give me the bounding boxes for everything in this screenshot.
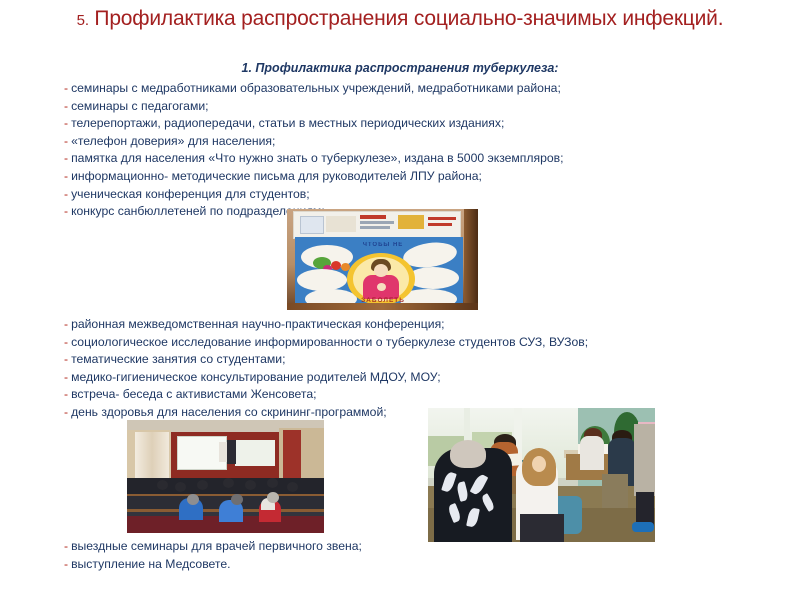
bullet-list-two: -районная межведомственная научно-практи… — [64, 316, 764, 422]
classroom-wall — [578, 408, 655, 486]
floral-pattern — [441, 471, 457, 493]
bullet-dash-icon: - — [64, 169, 68, 183]
person-figure-foreground — [434, 448, 512, 542]
list-item: -семинары с педагогами; — [64, 98, 764, 116]
window-frame — [464, 408, 470, 478]
table-surface — [488, 460, 552, 469]
chair — [548, 496, 582, 534]
bullet-dash-icon: - — [64, 187, 68, 201]
hall-left-curtain — [135, 432, 169, 488]
classroom-floor — [428, 508, 655, 542]
bullet-dash-icon: - — [64, 116, 68, 130]
poster-petal — [305, 289, 357, 309]
bullet-dash-icon: - — [64, 81, 68, 95]
poster-floor — [287, 303, 478, 310]
poster-center-disc — [353, 257, 409, 301]
audience-head — [231, 494, 243, 505]
list-item: -ученическая конференция для студентов; — [64, 186, 764, 204]
window-foliage — [472, 432, 512, 456]
audience-person-red — [259, 500, 281, 522]
photo-health-poster: ЧТОБЫ НЕ ЗАБОЛЕТЬ — [287, 209, 478, 310]
bullet-dash-icon: - — [64, 539, 68, 553]
person-figure-foreground — [516, 460, 558, 540]
person-figure — [580, 436, 604, 470]
paper-sheet — [578, 444, 608, 454]
table-surface — [564, 450, 632, 458]
classroom-floor — [428, 486, 655, 542]
list-item-label: медико-гигиеническое консультирование ро… — [71, 370, 441, 384]
list-item-label: семинары с медработниками образовательны… — [71, 81, 561, 95]
bullet-dash-icon: - — [64, 335, 68, 349]
audience-row — [127, 512, 324, 525]
person-hair — [612, 430, 632, 444]
vegetable-shape — [341, 263, 350, 271]
list-item-label: выездные семинары для врачей первичного … — [71, 539, 362, 553]
bullet-dash-icon: - — [64, 352, 68, 366]
bullet-dash-icon: - — [64, 405, 68, 419]
section-subtitle: 1. Профилактика распространения туберкул… — [70, 61, 730, 76]
list-item-label: ученическая конференция для студентов; — [71, 187, 310, 201]
list-item: -тематические занятия со студентами; — [64, 351, 764, 369]
vegetable-shape — [313, 257, 331, 269]
photo-classroom-session — [428, 408, 655, 542]
person-figure — [608, 438, 636, 486]
poster-figure-body — [363, 275, 399, 299]
list-item: -районная межведомственная научно-практи… — [64, 316, 764, 334]
list-item-label: «телефон доверия» для населения; — [71, 134, 275, 148]
audience-person-blue — [219, 500, 243, 522]
person-hair — [522, 448, 556, 486]
sheet-heading-line — [428, 223, 452, 226]
person-hair — [450, 440, 486, 468]
list-item: -социологическое исследование информиров… — [64, 334, 764, 352]
floral-pattern — [480, 493, 495, 512]
poster-wall-background — [287, 209, 478, 310]
list-item-label: семинары с педагогами; — [71, 99, 208, 113]
bullet-dash-icon: - — [64, 387, 68, 401]
poster-petal — [407, 267, 459, 289]
hall-right-curtain — [283, 430, 301, 486]
presenter-figure — [227, 440, 236, 464]
list-item: -встреча- беседа с активистами Женсовета… — [64, 386, 764, 404]
potted-plant — [580, 426, 610, 460]
chair-row — [127, 516, 324, 533]
poster-petal — [301, 245, 353, 269]
list-item: -памятка для населения «Что нужно знать … — [64, 150, 764, 168]
page-title: 5. Профилактика распространения социальн… — [70, 6, 730, 33]
chair — [602, 474, 628, 508]
poster-caption-bottom: ЗАБОЛЕТЬ — [349, 297, 417, 307]
sheet-heading-line — [360, 215, 386, 219]
vegetable-shape — [331, 261, 341, 270]
floral-pattern — [447, 503, 462, 523]
poster-petal — [402, 239, 459, 270]
list-item-label: социологическое исследование информирова… — [71, 335, 588, 349]
person-figure — [634, 424, 655, 496]
audience-person-blue — [179, 498, 203, 520]
person-hair — [584, 428, 602, 442]
table-body — [490, 464, 548, 494]
sheet-photo-block — [300, 216, 324, 234]
exercise-figure-shape — [309, 306, 334, 310]
list-item-label: выступление на Медсовете. — [71, 557, 230, 571]
projection-screen-secondary — [235, 440, 275, 466]
list-item-label: информационно- методические письма для р… — [71, 169, 482, 183]
poster-center-ring — [347, 253, 415, 305]
floral-pattern — [470, 473, 489, 496]
sheet-photo-block — [326, 216, 356, 232]
list-item-label: телерепортажи, радиопередачи, статьи в м… — [71, 116, 504, 130]
audience-head — [197, 480, 208, 490]
audience-head — [223, 478, 234, 488]
bullet-dash-icon: - — [64, 99, 68, 113]
hall-left-wall — [127, 430, 171, 488]
list-item-label: районная межведомственная научно-практич… — [71, 317, 445, 331]
list-item: -выступление на Медсовете. — [64, 556, 764, 574]
paper-sheet — [498, 453, 523, 467]
list-item-label: памятка для населения «Что нужно знать о… — [71, 151, 563, 165]
bullet-dash-icon: - — [64, 317, 68, 331]
person-figure — [638, 422, 655, 438]
table-body — [566, 454, 630, 480]
audience-row — [127, 496, 324, 509]
list-item: -«телефон доверия» для населения; — [64, 133, 764, 151]
floral-pattern — [456, 481, 469, 502]
poster-petal — [297, 269, 347, 291]
sheet-photo-block — [398, 215, 424, 229]
audience-head — [187, 494, 199, 505]
bullet-list-one: -семинары с медработниками образовательн… — [64, 80, 764, 221]
bullet-dash-icon: - — [64, 204, 68, 218]
vegetable-shape — [323, 265, 332, 272]
person-figure — [490, 442, 518, 476]
hall-right-wall — [279, 428, 324, 488]
audience-row — [127, 478, 324, 494]
poster-upper-sheet — [293, 211, 461, 239]
list-item-label: день здоровья для населения со скрининг-… — [71, 405, 387, 419]
hall-ceiling — [127, 420, 324, 436]
audience-head — [157, 480, 168, 490]
poster-petal — [399, 289, 457, 309]
audience-head — [267, 478, 278, 488]
poster-figure-face — [374, 264, 388, 277]
slide-canvas: 5. Профилактика распространения социальн… — [0, 0, 800, 600]
list-item: -медико-гигиеническое консультирование р… — [64, 369, 764, 387]
bullet-list-three: -выездные семинары для врачей первичного… — [64, 538, 764, 573]
person-face — [532, 456, 546, 472]
audience-head — [287, 482, 298, 492]
title-text: Профилактика распространения социально-з… — [89, 7, 724, 30]
list-item: -день здоровья для населения со скрининг… — [64, 404, 764, 422]
shoe — [632, 522, 654, 532]
bullet-dash-icon: - — [64, 151, 68, 165]
audience-person-white — [261, 498, 275, 510]
list-item: -информационно- методические письма для … — [64, 168, 764, 186]
list-item-label: встреча- беседа с активистами Женсовета; — [71, 387, 316, 401]
classroom-window — [428, 408, 578, 478]
title-number: 5. — [77, 12, 89, 29]
window-foliage — [428, 436, 464, 466]
photo-conference-hall — [127, 420, 324, 533]
bullet-dash-icon: - — [64, 557, 68, 571]
list-item: -семинары с медработниками образовательн… — [64, 80, 764, 98]
hall-stage-backdrop — [171, 432, 279, 486]
presenter-figure — [219, 442, 227, 462]
potted-plant — [614, 412, 640, 452]
poster-board: ЧТОБЫ НЕ ЗАБОЛЕТЬ — [295, 237, 463, 307]
window-frame — [514, 408, 522, 478]
list-item: -выездные семинары для врачей первичного… — [64, 538, 764, 556]
projection-screen — [177, 436, 227, 470]
sheet-text-line — [360, 226, 390, 229]
sheet-heading-line — [428, 217, 456, 220]
person-legs — [636, 492, 654, 526]
poster-figure-hair — [371, 259, 391, 271]
exercise-figure-shape — [321, 305, 324, 310]
list-item-label: тематические занятия со студентами; — [71, 352, 285, 366]
hall-floor — [127, 486, 324, 533]
floral-pattern — [466, 507, 480, 528]
sheet-text-line — [360, 221, 394, 224]
audience-head — [267, 492, 279, 503]
poster-caption-top: ЧТОБЫ НЕ — [351, 242, 415, 252]
audience-head — [175, 482, 186, 492]
person-hair — [494, 434, 516, 450]
bullet-dash-icon: - — [64, 134, 68, 148]
audience-head — [245, 480, 256, 490]
bullet-dash-icon: - — [64, 370, 68, 384]
exercise-figure-shape — [309, 302, 334, 310]
poster-door-frame — [464, 209, 478, 310]
list-item: -телерепортажи, радиопередачи, статьи в … — [64, 115, 764, 133]
poster-figure-hand — [377, 283, 386, 291]
